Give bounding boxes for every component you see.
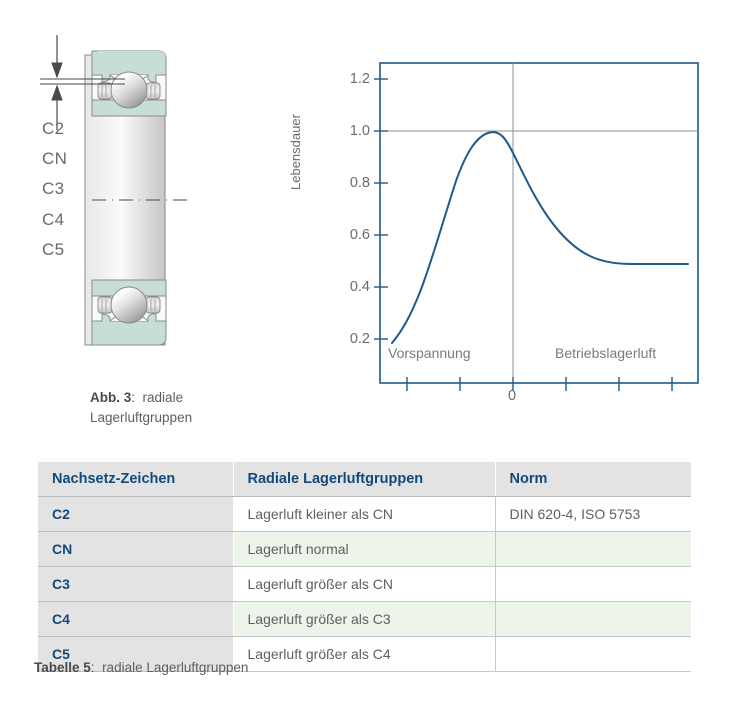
table-cell-code: C3: [38, 567, 233, 602]
table-row: C2 Lagerluft kleiner als CN DIN 620-4, I…: [38, 497, 691, 532]
table-header-radiale-lagerluftgruppen: Radiale Lagerluftgruppen: [233, 462, 495, 497]
table-header-row: Nachsetz-Zeichen Radiale Lagerluftgruppe…: [38, 462, 691, 497]
table-row: C4 Lagerluft größer als C3: [38, 602, 691, 637]
chart-axis-frame: [380, 63, 698, 383]
figure-caption-label: Abb. 3: [90, 390, 131, 405]
chart-x-tick-zero: 0: [508, 388, 516, 404]
table-header-norm: Norm: [495, 462, 691, 497]
chart-zone-label-betriebslagerluft: Betriebslagerluft: [555, 345, 656, 361]
table-cell-description: Lagerluft normal: [233, 532, 495, 567]
table-cell-norm: [495, 532, 691, 567]
table-cell-description: Lagerluft größer als CN: [233, 567, 495, 602]
table-cell-norm: [495, 602, 691, 637]
table-row: CN Lagerluft normal: [38, 532, 691, 567]
chart-zone-label-vorspannung: Vorspannung: [388, 345, 471, 361]
figure-caption-sep: :: [131, 390, 135, 405]
clearance-groups-table: Nachsetz-Zeichen Radiale Lagerluftgruppe…: [38, 461, 691, 672]
bearing-cross-section-drawing: [30, 30, 260, 370]
table-cell-norm: [495, 637, 691, 672]
clearance-label-c3: C3: [42, 180, 64, 197]
table-caption-sep: :: [91, 660, 95, 675]
table-caption: Tabelle 5: radiale Lagerluftgruppen: [34, 660, 248, 675]
clearance-label-c2: C2: [42, 120, 64, 137]
table-cell-code: C4: [38, 602, 233, 637]
table-cell-norm: DIN 620-4, ISO 5753: [495, 497, 691, 532]
table-cell-description: Lagerluft kleiner als CN: [233, 497, 495, 532]
chart-y-axis-label: Lebensdauer: [288, 70, 303, 190]
life-vs-clearance-chart: Lebensdauer 1.2 1.0 0.8 0.6 0.4 0.2: [310, 45, 710, 405]
clearance-label-cn: CN: [42, 150, 67, 167]
clearance-label-c4: C4: [42, 211, 64, 228]
figure-caption: Abb. 3: radiale Lagerluftgruppen: [90, 388, 270, 427]
chart-series-lebensdauer: [392, 132, 688, 343]
document-page: C2 CN C3 C4 C5 Abb. 3: radiale Lagerluft…: [0, 0, 743, 721]
table-cell-code: C2: [38, 497, 233, 532]
bearing-ball-bottom: [111, 287, 147, 323]
table-header-nachsetz-zeichen: Nachsetz-Zeichen: [38, 462, 233, 497]
chart-y-ticks: [374, 79, 388, 339]
clearance-label-c5: C5: [42, 241, 64, 258]
bearing-figure: C2 CN C3 C4 C5 Abb. 3: radiale Lagerluft…: [30, 30, 260, 405]
chart-x-ticks: [407, 377, 672, 391]
table-cell-description: Lagerluft größer als C4: [233, 637, 495, 672]
bearing-ball-top: [111, 72, 147, 108]
table-cell-description: Lagerluft größer als C3: [233, 602, 495, 637]
table-cell-norm: [495, 567, 691, 602]
table-row: C3 Lagerluft größer als CN: [38, 567, 691, 602]
table-caption-label: Tabelle 5: [34, 660, 91, 675]
table-caption-text: radiale Lagerluftgruppen: [102, 660, 248, 675]
table-cell-code: CN: [38, 532, 233, 567]
